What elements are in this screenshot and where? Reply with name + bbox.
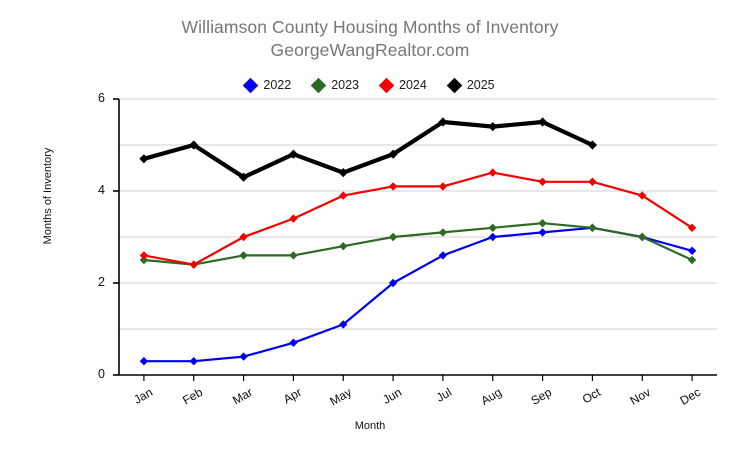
data-point-2024 [239,233,247,241]
data-point-2022 [289,339,297,347]
y-tick-label: 0 [75,367,105,381]
data-point-2024 [538,178,546,186]
y-tick-label: 6 [75,91,105,105]
data-point-2024 [489,168,497,176]
data-point-2023 [688,256,696,264]
data-point-2023 [289,251,297,259]
data-point-2025 [139,154,148,163]
y-tick-label: 4 [75,183,105,197]
data-point-2024 [588,178,596,186]
data-point-2024 [439,182,447,190]
x-axis-ticks [144,375,692,381]
data-point-2022 [140,357,148,365]
data-point-2025 [488,122,497,131]
data-point-2022 [190,357,198,365]
gridlines [119,99,717,329]
data-point-2023 [339,242,347,250]
data-point-2024 [339,191,347,199]
data-point-2023 [489,224,497,232]
data-point-2022 [239,352,247,360]
data-point-2022 [439,251,447,259]
data-point-2023 [638,233,646,241]
data-point-2024 [389,182,397,190]
data-point-2023 [439,228,447,236]
y-axis-title: Months of Inventory [42,116,54,276]
data-point-2022 [489,233,497,241]
data-point-2023 [588,224,596,232]
data-point-2024 [190,260,198,268]
data-point-2023 [389,233,397,241]
data-point-2023 [239,251,247,259]
data-point-2024 [289,214,297,222]
chart-container: Williamson County Housing Months of Inve… [0,0,740,458]
series-line-2024 [144,173,692,265]
data-point-2022 [688,247,696,255]
data-point-2022 [538,228,546,236]
series-layer [139,117,696,365]
y-tick-label: 2 [75,275,105,289]
plot-area [0,0,740,458]
x-axis-title: Month [0,420,740,432]
data-point-2023 [538,219,546,227]
series-line-2023 [144,223,692,264]
series-line-2025 [144,122,593,177]
data-point-2024 [140,251,148,259]
